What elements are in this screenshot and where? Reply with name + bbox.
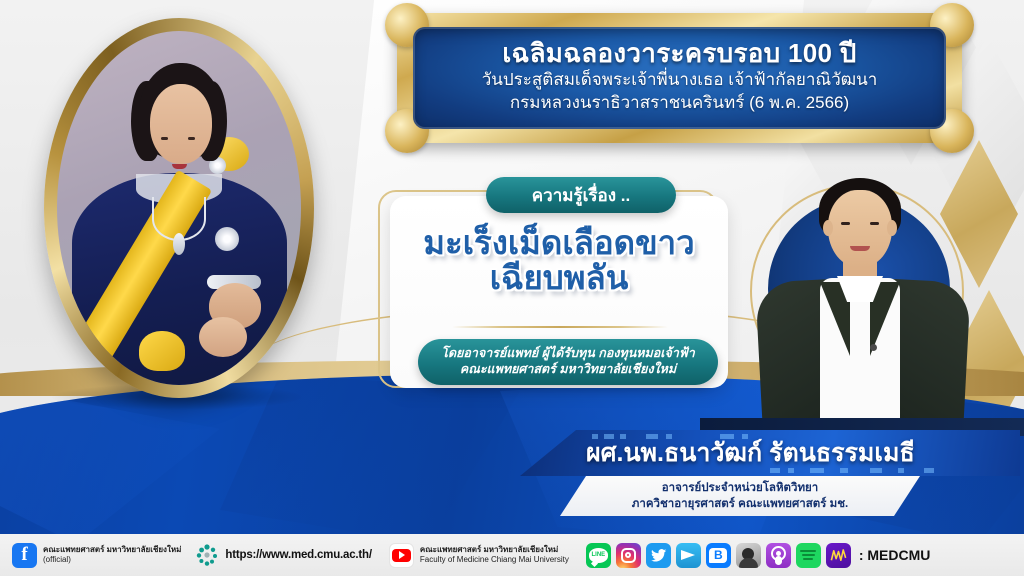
footer-bar: f คณะแพทยศาสตร์ มหาวิทยาลัยเชียงใหม่ (of… [0,534,1024,576]
blockdit-icon-label: B [709,548,727,563]
podbean-icon[interactable] [736,543,761,568]
footer-youtube[interactable]: คณะแพทยศาสตร์ มหาวิทยาลัยเชียงใหม่ Facul… [389,543,569,568]
credit-pill: โดยอาจารย์แพทย์ ผู้ได้รับทุน กองทุนหมอเจ… [418,339,718,385]
plaque-line-3: กรมหลวงนราธิวาสราชนครินทร์ (6 พ.ค. 2566) [510,92,849,115]
plaque-line-1: เฉลิมฉลองวาระครบรอบ 100 ปี [502,38,856,69]
footer-social-icons: LINE B [586,543,931,568]
medcmu-handle: : MEDCMU [859,547,931,563]
speaker-name: ผศ.นพ.ธนาวัฒก์ รัตนธรรมเมธี [586,433,915,473]
youtube-label: คณะแพทยศาสตร์ มหาวิทยาลัยเชียงใหม่ Facul… [420,545,569,565]
credit-line2: คณะแพทยศาสตร์ มหาวิทยาลัยเชียงใหม่ [460,362,676,378]
soundwave-icon[interactable] [826,543,851,568]
royal-portrait [44,18,314,398]
portrait-image [57,31,301,385]
twitter-icon[interactable] [646,543,671,568]
topic-headline: มะเร็งเม็ดเลือดขาว เฉียบพลัน [392,226,726,296]
speaker-name-banner: ผศ.นพ.ธนาวัฒก์ รัตนธรรมเมธี [520,430,1020,476]
apple-podcasts-icon[interactable] [766,543,791,568]
youtube-icon[interactable] [389,543,414,568]
youtube-label-line2: Faculty of Medicine Chiang Mai Universit… [420,555,569,565]
anniversary-plaque: เฉลิมฉลองวาระครบรอบ 100 ปี วันประสูติสมเ… [397,13,962,143]
topic-headline-line1: มะเร็งเม็ดเลือดขาว [392,226,726,261]
line-icon[interactable]: LINE [586,543,611,568]
footer-facebook[interactable]: f คณะแพทยศาสตร์ มหาวิทยาลัยเชียงใหม่ (of… [12,543,181,568]
plaque-blue-inner: เฉลิมฉลองวาระครบรอบ 100 ปี วันประสูติสมเ… [413,27,946,129]
footer-website[interactable]: https://www.med.cmu.ac.th/ [194,543,371,568]
speaker-role: อาจารย์ประจำหน่วยโลหิตวิทยา ภาควิชาอายุร… [560,476,920,516]
telegram-icon[interactable] [676,543,701,568]
credit-line1: โดยอาจารย์แพทย์ ผู้ได้รับทุน กองทุนหมอเจ… [441,346,694,362]
facebook-label-line2: (official) [43,555,181,565]
instagram-icon[interactable] [616,543,641,568]
website-url[interactable]: https://www.med.cmu.ac.th/ [225,549,371,561]
plaque-line-2: วันประสูติสมเด็จพระเจ้าพี่นางเธอ เจ้าฟ้า… [482,69,878,92]
youtube-label-line1: คณะแพทยศาสตร์ มหาวิทยาลัยเชียงใหม่ [420,545,569,555]
line-icon-label: LINE [589,548,608,563]
cmu-logo-icon [194,543,219,568]
spotify-icon[interactable] [796,543,821,568]
speaker-role-line2: ภาควิชาอายุรศาสตร์ คณะแพทยศาสตร์ มช. [632,496,848,512]
facebook-label-line1: คณะแพทยศาสตร์ มหาวิทยาลัยเชียงใหม่ [43,545,181,555]
lapel-mic-icon [870,344,877,351]
card-divider [452,326,668,328]
topic-headline-line2: เฉียบพลัน [392,261,726,296]
poster-canvas: เฉลิมฉลองวาระครบรอบ 100 ปี วันประสูติสมเ… [0,0,1024,576]
eyebrow-pill: ความรู้เรื่อง .. [486,177,676,213]
portrait-gold-frame [44,18,314,398]
facebook-label: คณะแพทยศาสตร์ มหาวิทยาลัยเชียงใหม่ (offi… [43,545,181,565]
speaker-role-line1: อาจารย์ประจำหน่วยโลหิตวิทยา [662,480,818,496]
blockdit-icon[interactable]: B [706,543,731,568]
facebook-icon[interactable]: f [12,543,37,568]
